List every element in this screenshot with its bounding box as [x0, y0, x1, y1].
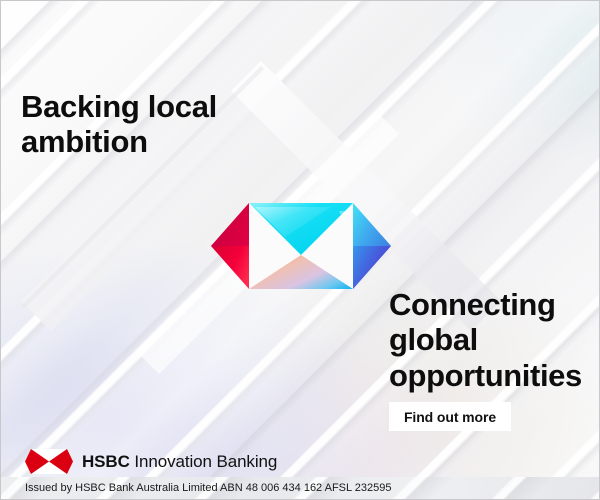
- headline-left: Backing local ambition: [21, 89, 301, 160]
- hsbc-logo-lockup[interactable]: HSBC Innovation Banking: [25, 449, 277, 474]
- logo-descriptor-text: Innovation Banking: [134, 452, 277, 471]
- disclaimer-text: Issued by HSBC Bank Australia Limited AB…: [25, 477, 392, 499]
- hsbc-wordmark: HSBC Innovation Banking: [82, 452, 277, 472]
- find-out-more-button[interactable]: Find out more: [389, 402, 511, 431]
- hsbc-hexagon-gradient-graphic: [211, 191, 391, 301]
- hsbc-hexagon-icon: [25, 449, 73, 474]
- logo-brand-text: HSBC: [82, 452, 130, 471]
- disclaimer-bar: Issued by HSBC Bank Australia Limited AB…: [1, 477, 599, 499]
- headline-right: Connecting global opportunities: [389, 287, 599, 393]
- ad-banner[interactable]: Backing local ambition Connecting global…: [0, 0, 600, 500]
